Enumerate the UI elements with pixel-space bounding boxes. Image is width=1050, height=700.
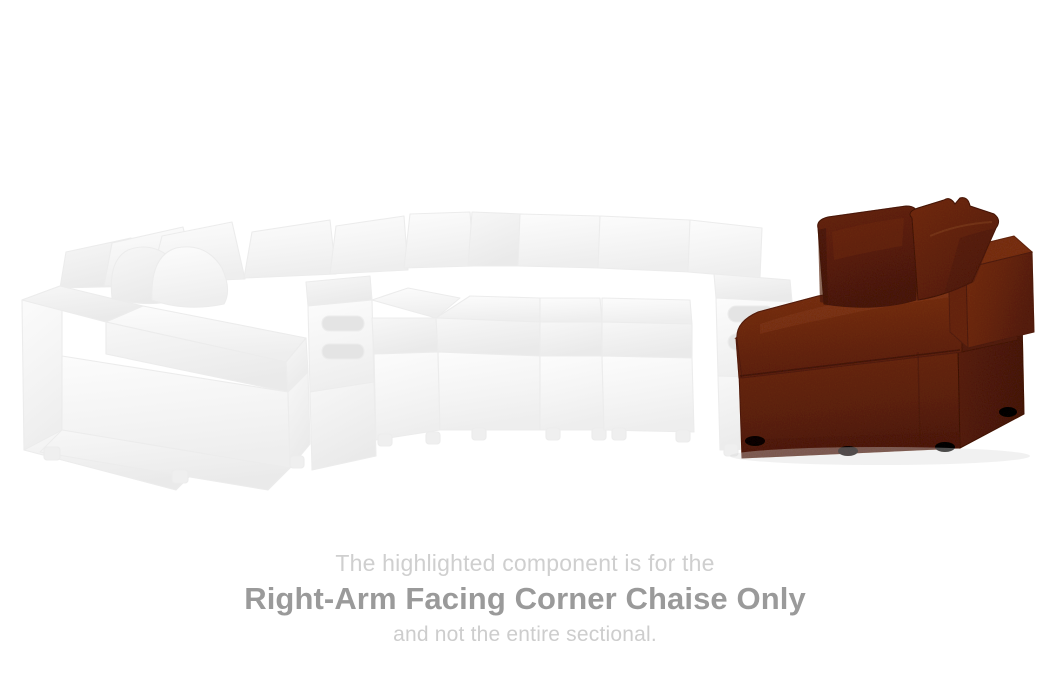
chaise-contact-shadow xyxy=(730,447,1030,465)
module-console-left xyxy=(306,276,376,470)
caption-line-1: The highlighted component is for the xyxy=(0,548,1050,578)
chaise-foot-back-right xyxy=(999,407,1017,417)
caption-block: The highlighted component is for the Rig… xyxy=(0,548,1050,650)
caption-line-3: and not the entire sectional. xyxy=(0,620,1050,650)
caption-line-2: Right-Arm Facing Corner Chaise Only xyxy=(0,578,1050,620)
module-right-arm-facing-corner-chaise xyxy=(736,198,1034,458)
ghosted-sectional-group xyxy=(22,212,796,490)
chaise-foot-left xyxy=(745,436,765,446)
sectional-svg xyxy=(0,0,1050,540)
module-back-row-right xyxy=(688,220,762,278)
screenshot-stage: The highlighted component is for the Rig… xyxy=(0,0,1050,700)
modular-sectional-diagram xyxy=(0,0,1050,540)
module-armless-chair-right xyxy=(598,216,694,442)
